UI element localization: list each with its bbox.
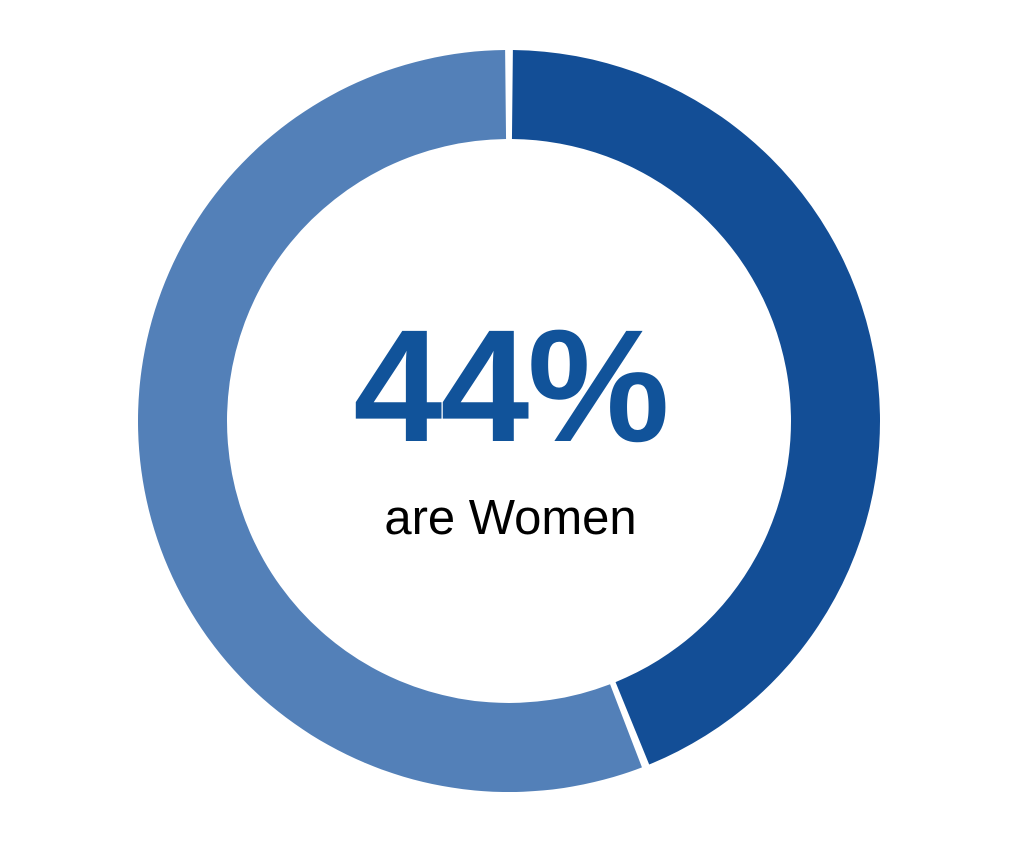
donut-chart-svg xyxy=(0,0,1021,848)
donut-chart: 44% are Women xyxy=(0,0,1021,848)
donut-slice-group xyxy=(138,50,880,792)
donut-slice-women xyxy=(512,50,880,764)
donut-slice-men xyxy=(138,50,642,792)
